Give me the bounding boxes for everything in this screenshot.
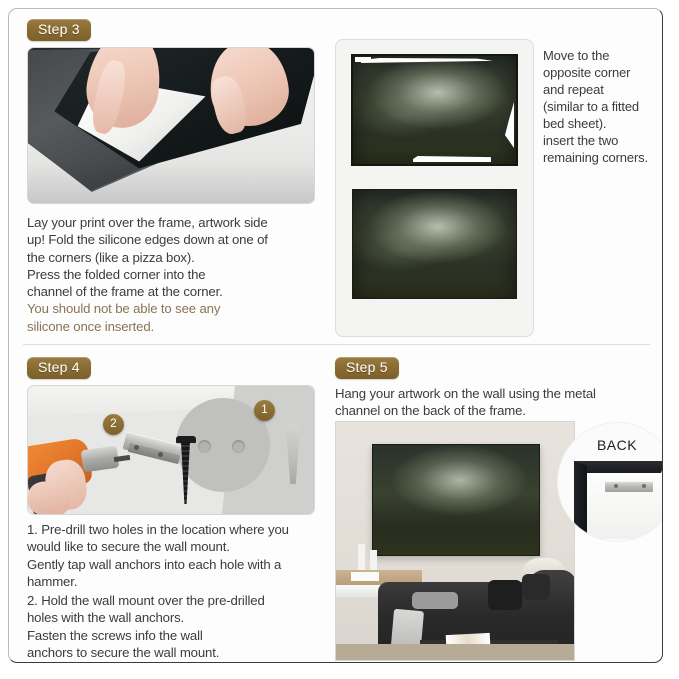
metal-channel-hole-left	[614, 484, 618, 488]
step-3-instruction-main: Lay your print over the frame, artwork s…	[27, 214, 323, 300]
livingroom-illustration	[336, 422, 574, 660]
step-3-side-note: Move to the opposite corner and repeat (…	[543, 47, 663, 166]
silicone-right-edge	[505, 102, 514, 148]
decor-candle-tall	[358, 544, 365, 570]
floor	[336, 644, 574, 660]
photo-shadow	[28, 161, 314, 203]
step-3-instruction-highlight: You should not be able to see any silico…	[27, 300, 323, 335]
step-5-section: Step 5 Hang your artwork on the wall usi…	[329, 349, 663, 663]
sofa-cushion-light	[412, 592, 458, 609]
silicone-top-edge	[361, 58, 493, 63]
hands-folding-illustration	[28, 48, 314, 203]
step-3-text-block: Lay your print over the frame, artwork s…	[27, 214, 323, 335]
pre-drilled-hole-left	[198, 440, 211, 453]
artwork-unfinished-corners	[353, 56, 516, 164]
step-3-section: Step 3 Lay your print over the frame, ar…	[9, 9, 663, 334]
step-4-instruction-1: 1. Pre-drill two holes in the location w…	[27, 521, 319, 590]
step-3-side-note-block: Move to the opposite corner and repeat (…	[543, 47, 663, 166]
sofa-cushion-dark-1	[488, 580, 522, 610]
bracket-hole-left	[134, 445, 139, 450]
step-5-instruction: Hang your artwork on the wall using the …	[335, 385, 655, 420]
silicone-bottom-edge	[413, 156, 491, 162]
sofa-cushion-dark-2	[522, 574, 550, 600]
marker-one-badge: 1	[254, 400, 275, 421]
drill-illustration: 2 1	[28, 386, 314, 514]
hung-artwork	[372, 444, 540, 556]
metal-channel-hole-right	[642, 484, 646, 488]
step-4-section: Step 4 2	[9, 349, 329, 663]
marker-two-badge: 2	[103, 414, 124, 435]
step-3-badge: Step 3	[27, 19, 91, 41]
step-4-badge: Step 4	[27, 357, 91, 379]
back-callout-label: BACK	[558, 437, 663, 453]
drill-bit	[114, 455, 131, 462]
step-3-photo-hands-folding-print	[27, 47, 315, 204]
step-4-instruction-2: 2. Hold the wall mount over the pre-dril…	[27, 592, 319, 661]
step-5-badge: Step 5	[335, 357, 399, 379]
bracket-hole-right	[158, 452, 163, 457]
step-3-artwork-panel	[335, 39, 534, 337]
artwork-finished	[353, 190, 516, 298]
step-5-photo-livingroom	[335, 421, 575, 661]
pre-drilled-hole-right	[232, 440, 245, 453]
decor-books	[351, 572, 379, 581]
step-4-photo-drill-and-hardware: 2 1	[27, 385, 315, 515]
decor-candle-short	[370, 550, 377, 570]
silicone-top-left-edge	[355, 57, 371, 62]
section-divider	[23, 344, 650, 345]
frame-back-left-edge	[574, 461, 587, 539]
screw-head	[176, 436, 196, 443]
instruction-card: Step 3 Lay your print over the frame, ar…	[8, 8, 663, 663]
